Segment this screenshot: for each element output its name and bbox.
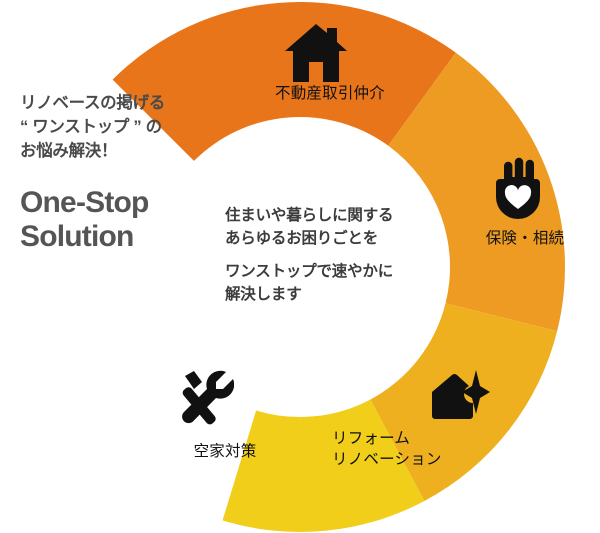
headline-line-2: Solution — [20, 220, 225, 255]
center-spacer — [225, 251, 455, 260]
house-icon — [283, 22, 349, 89]
center-line-1: 住まいや暮らしに関する — [225, 204, 455, 227]
hand-heart-icon — [490, 157, 546, 228]
segment-label-akiya: 空家対策 — [160, 442, 290, 463]
center-line-4: 解決します — [225, 283, 455, 306]
lead-line-3: お悩み解決！ — [20, 140, 225, 164]
left-text-panel: リノベースの掲げる “ ワンストップ ” の お悩み解決！ One-Stop S… — [20, 92, 225, 255]
segment-label-real-estate: 不動産取引仲介 — [240, 84, 420, 105]
center-line-3: ワンストップで速やかに — [225, 260, 455, 283]
segment-label-insurance: 保険・相続 — [460, 229, 590, 250]
segment-label-reform-line-2: リノベーション — [332, 450, 502, 471]
headline-line-1: One-Stop — [20, 186, 225, 221]
lead-line-1: リノベースの掲げる — [20, 92, 225, 116]
segment-label-reform: リフォーム リノベーション — [332, 429, 502, 471]
center-line-2: あらゆるお困りごとを — [225, 227, 455, 250]
hammer-wrench-icon — [170, 368, 234, 433]
center-text-panel: 住まいや暮らしに関する あらゆるお困りごとを ワンストップで速やかに 解決します — [225, 204, 455, 306]
page-title: One-Stop Solution — [20, 186, 225, 255]
house-sparkle-icon — [428, 370, 490, 431]
infographic-canvas: リノベースの掲げる “ ワンストップ ” の お悩み解決！ One-Stop S… — [0, 0, 600, 533]
segment-label-reform-line-1: リフォーム — [332, 429, 502, 450]
lead-line-2: “ ワンストップ ” の — [20, 116, 225, 140]
